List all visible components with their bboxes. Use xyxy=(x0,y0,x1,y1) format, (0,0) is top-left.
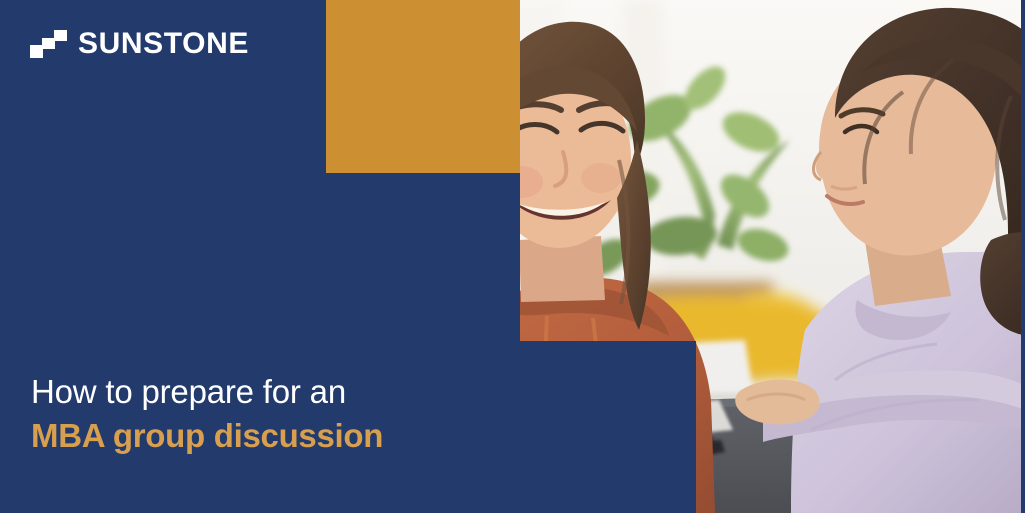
sunstone-wordmark: SUNSTONE xyxy=(78,29,249,59)
sunstone-logo[interactable]: SUNSTONE xyxy=(30,27,249,61)
headline-line-1: How to prepare for an xyxy=(31,372,491,413)
headline-line-2: MBA group discussion xyxy=(31,416,491,457)
gold-accent-block xyxy=(326,0,520,173)
sunstone-step-mark xyxy=(30,30,67,58)
promo-banner: SUNSTONE How to prepare for an MBA group… xyxy=(0,0,1025,513)
navy-right-edge xyxy=(1021,0,1025,513)
headline: How to prepare for an MBA group discussi… xyxy=(31,372,491,457)
